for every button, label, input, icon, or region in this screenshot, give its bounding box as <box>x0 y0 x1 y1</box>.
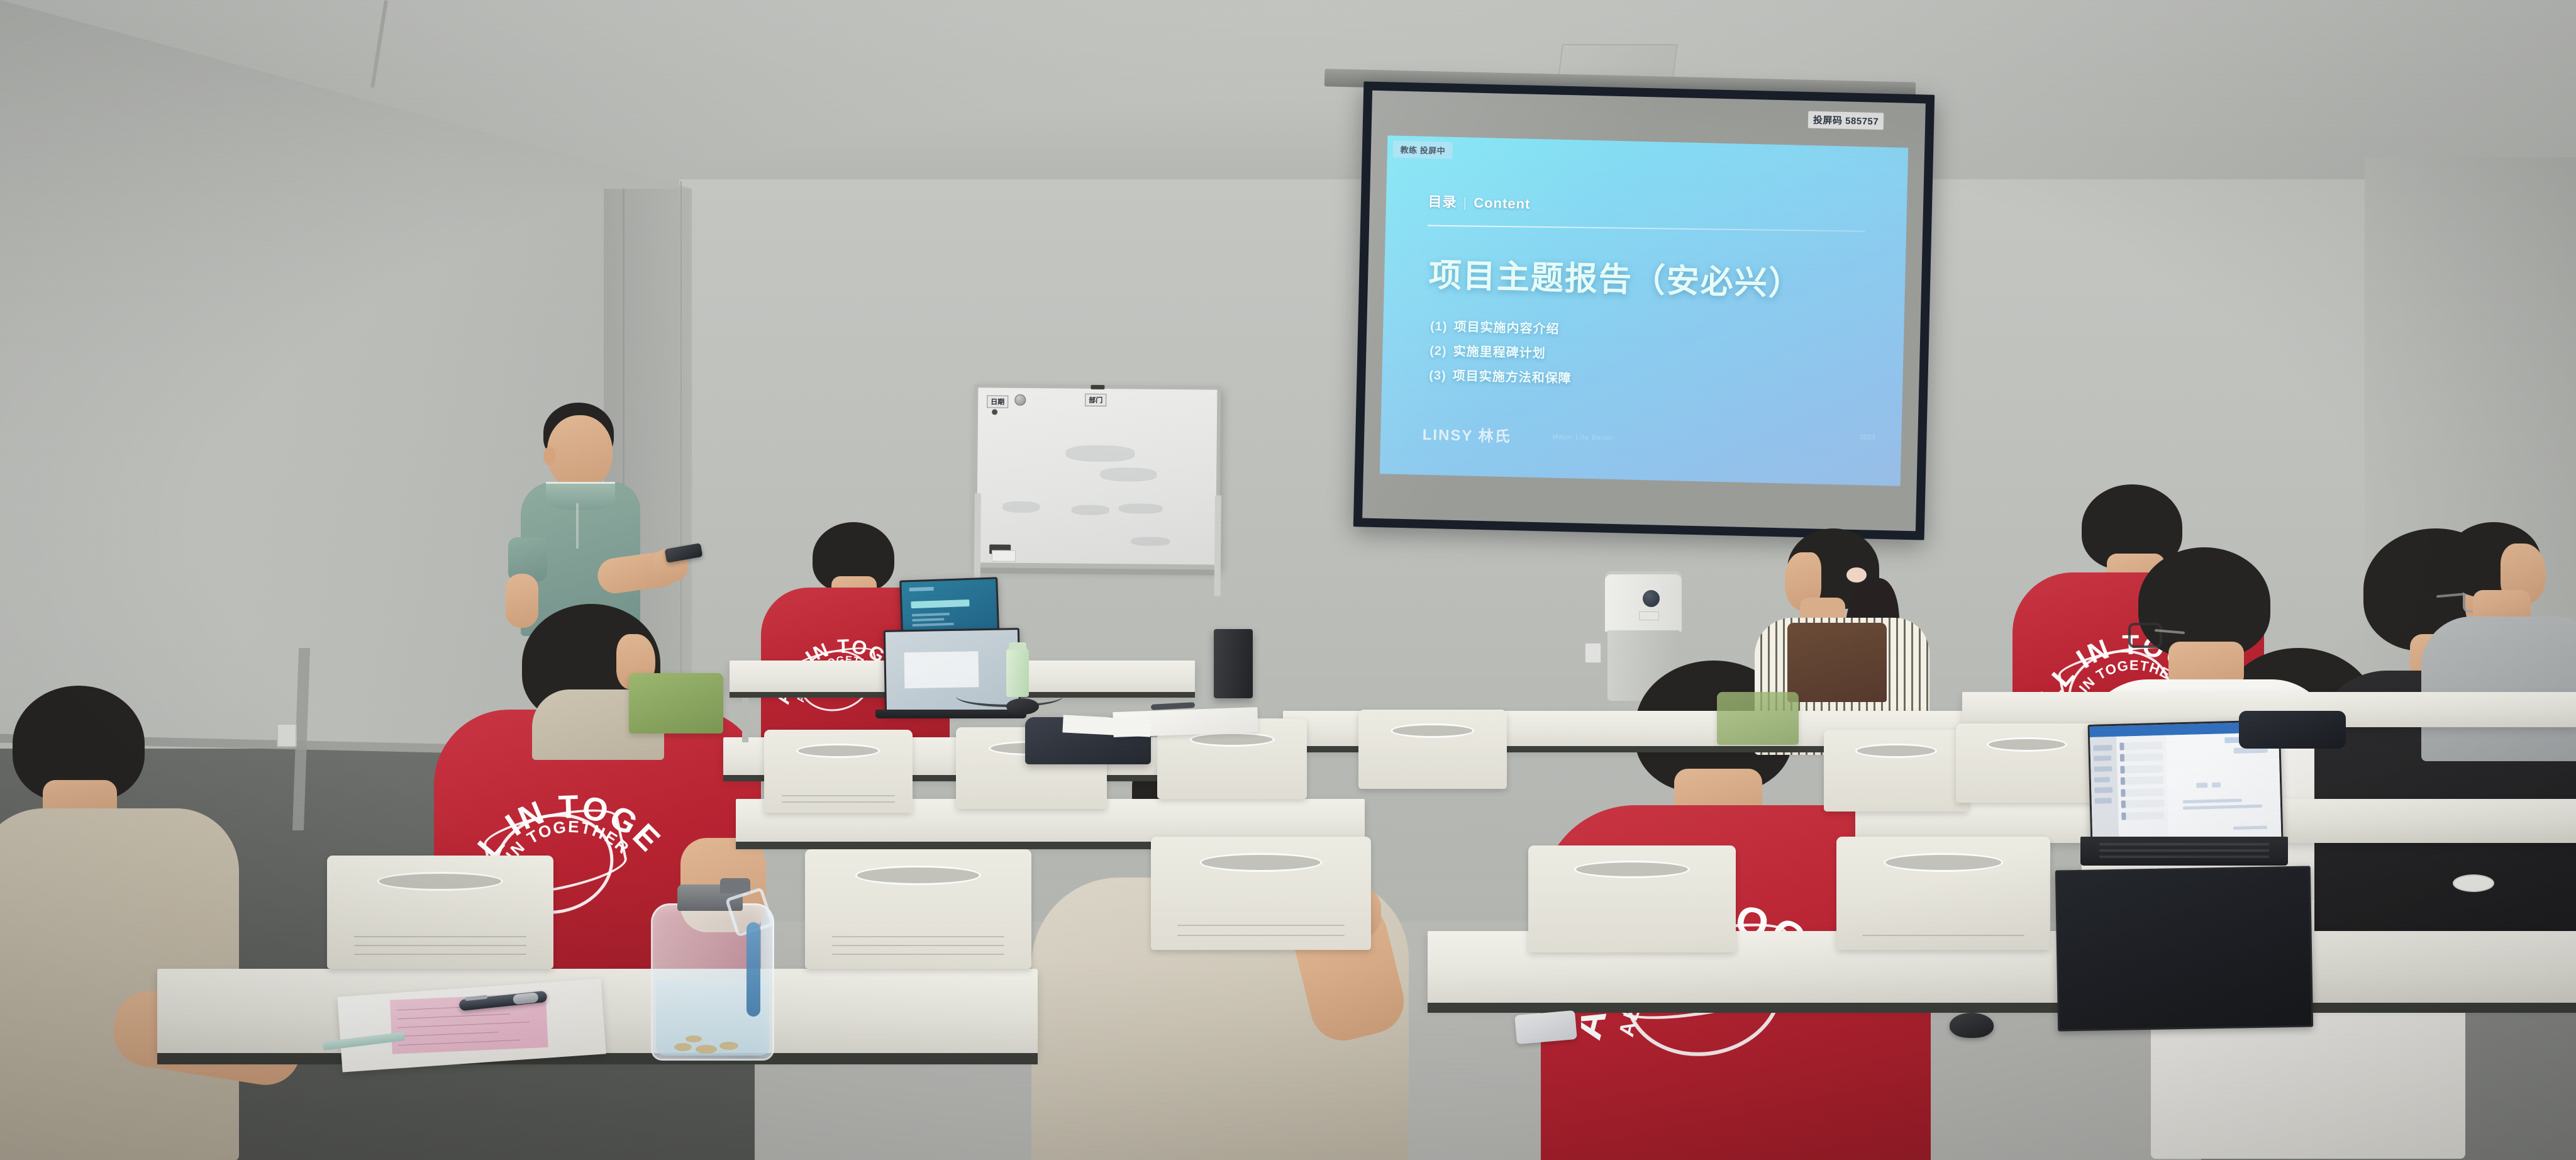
hair-tie <box>1846 567 1867 583</box>
chair[interactable] <box>1717 692 1799 745</box>
chair[interactable] <box>1358 710 1507 789</box>
attendee-beige-farleft <box>0 686 302 1160</box>
bullet-number: (3) <box>1429 369 1446 383</box>
slide-toc-heading: 目录|Content <box>1428 191 1531 213</box>
app-conversation-list[interactable] <box>2116 735 2168 842</box>
whiteboard-magnet <box>1014 394 1026 406</box>
chair[interactable] <box>629 673 723 733</box>
slide-brand-logo: LINSY 林氏 <box>1422 422 1511 446</box>
brown-vest <box>1787 623 1887 702</box>
chair[interactable] <box>1151 837 1371 950</box>
presenter-placket <box>576 503 579 549</box>
presenter-head <box>547 415 613 489</box>
whiteboard-label-department: 部门 <box>1085 394 1106 406</box>
slide-toc-separator: | <box>1463 195 1467 211</box>
slide-toc-cn: 目录 <box>1428 194 1457 210</box>
bullet-text: 项目实施方法和保障 <box>1452 369 1571 386</box>
whiteboard-surface: 日期 部门 <box>977 388 1217 564</box>
air-purifier-dial[interactable] <box>1643 590 1660 607</box>
laptop-base <box>2080 837 2288 866</box>
whiteboard-leg <box>1214 496 1221 596</box>
presentation-slide: 教练 投屏中 目录|Content 项目主题报告（安必兴） (1)项目实施内容介… <box>1380 136 1908 486</box>
app-sidebar <box>2090 736 2119 842</box>
laptop-bag <box>2239 711 2346 749</box>
whiteboard: 日期 部门 <box>962 381 1241 598</box>
desk-rail <box>742 698 748 742</box>
floor-speaker <box>1214 629 1253 698</box>
smartphone[interactable] <box>1514 1010 1577 1044</box>
chair[interactable] <box>805 849 1031 969</box>
bottle-cap <box>1009 642 1026 650</box>
bullet-text: 实施里程碑计划 <box>1453 345 1545 360</box>
jug-nozzle <box>720 878 750 893</box>
bullet-text: 项目实施内容介绍 <box>1453 320 1559 337</box>
whiteboard-clip <box>1091 385 1104 389</box>
presenter-collar <box>546 482 615 510</box>
chair[interactable] <box>1836 837 2050 950</box>
air-purifier-label <box>1639 611 1659 620</box>
slide-bullet-item: (3)项目实施方法和保障 <box>1429 365 1572 386</box>
slide-title: 项目主题报告（安必兴） <box>1428 248 1803 304</box>
cast-code-badge: 投屏码 585757 <box>1808 111 1884 130</box>
computer-mouse[interactable] <box>1006 698 1039 715</box>
whiteboard-label-date: 日期 <box>987 395 1008 408</box>
attendee-shirt <box>2421 616 2576 761</box>
bullet-number: (1) <box>1430 320 1448 334</box>
slide-toc-en: Content <box>1474 195 1531 212</box>
projection-screen-surface: 教练 投屏中 目录|Content 项目主题报告（安必兴） (1)项目实施内容介… <box>1362 91 1926 532</box>
laptop-base <box>875 710 1026 718</box>
desk-edge <box>1428 1003 2576 1013</box>
whiteboard-frame: 日期 部门 <box>973 384 1221 569</box>
desk-edge <box>157 1053 1038 1064</box>
screenshot-root: 教练 投屏中 目录|Content 项目主题报告（安必兴） (1)项目实施内容介… <box>0 0 2576 1160</box>
projection-screen: 教练 投屏中 目录|Content 项目主题报告（安必兴） (1)项目实施内容介… <box>1353 81 1935 540</box>
cast-status-badge: 教练 投屏中 <box>1392 141 1453 159</box>
slide-bullet-item: (1)项目实施内容介绍 <box>1430 316 1573 337</box>
computer-mouse[interactable] <box>1950 1013 1994 1038</box>
chair[interactable] <box>764 730 913 813</box>
chair[interactable] <box>1956 723 2098 803</box>
slide-tagline: Major Life Better <box>1552 433 1614 442</box>
whiteboard-eraser-holder <box>992 550 1016 561</box>
whiteboard-pin <box>992 409 997 415</box>
whiteboard-tray <box>977 567 1216 575</box>
pen-grip <box>513 992 538 1005</box>
jug-strap <box>747 922 760 1017</box>
laptop-screen-app-2[interactable] <box>2055 866 2313 1031</box>
presenter-ear <box>543 447 556 466</box>
presentation-clicker[interactable] <box>665 543 703 563</box>
chair[interactable] <box>1824 730 1968 811</box>
slide-bullet-list: (1)项目实施内容介绍 (2)实施里程碑计划 (3)项目实施方法和保障 <box>1429 316 1573 393</box>
paper-cup <box>2453 874 2494 892</box>
laptop-display <box>2057 868 2311 1030</box>
slide-bullet-item: (2)实施里程碑计划 <box>1430 340 1572 362</box>
chair[interactable] <box>327 856 553 969</box>
slide-page-number: 2023 <box>1860 433 1875 442</box>
bullet-number: (2) <box>1430 344 1447 359</box>
water-jug <box>651 881 770 1057</box>
chair[interactable] <box>1528 845 1736 952</box>
slide-divider-rule <box>1428 225 1865 232</box>
